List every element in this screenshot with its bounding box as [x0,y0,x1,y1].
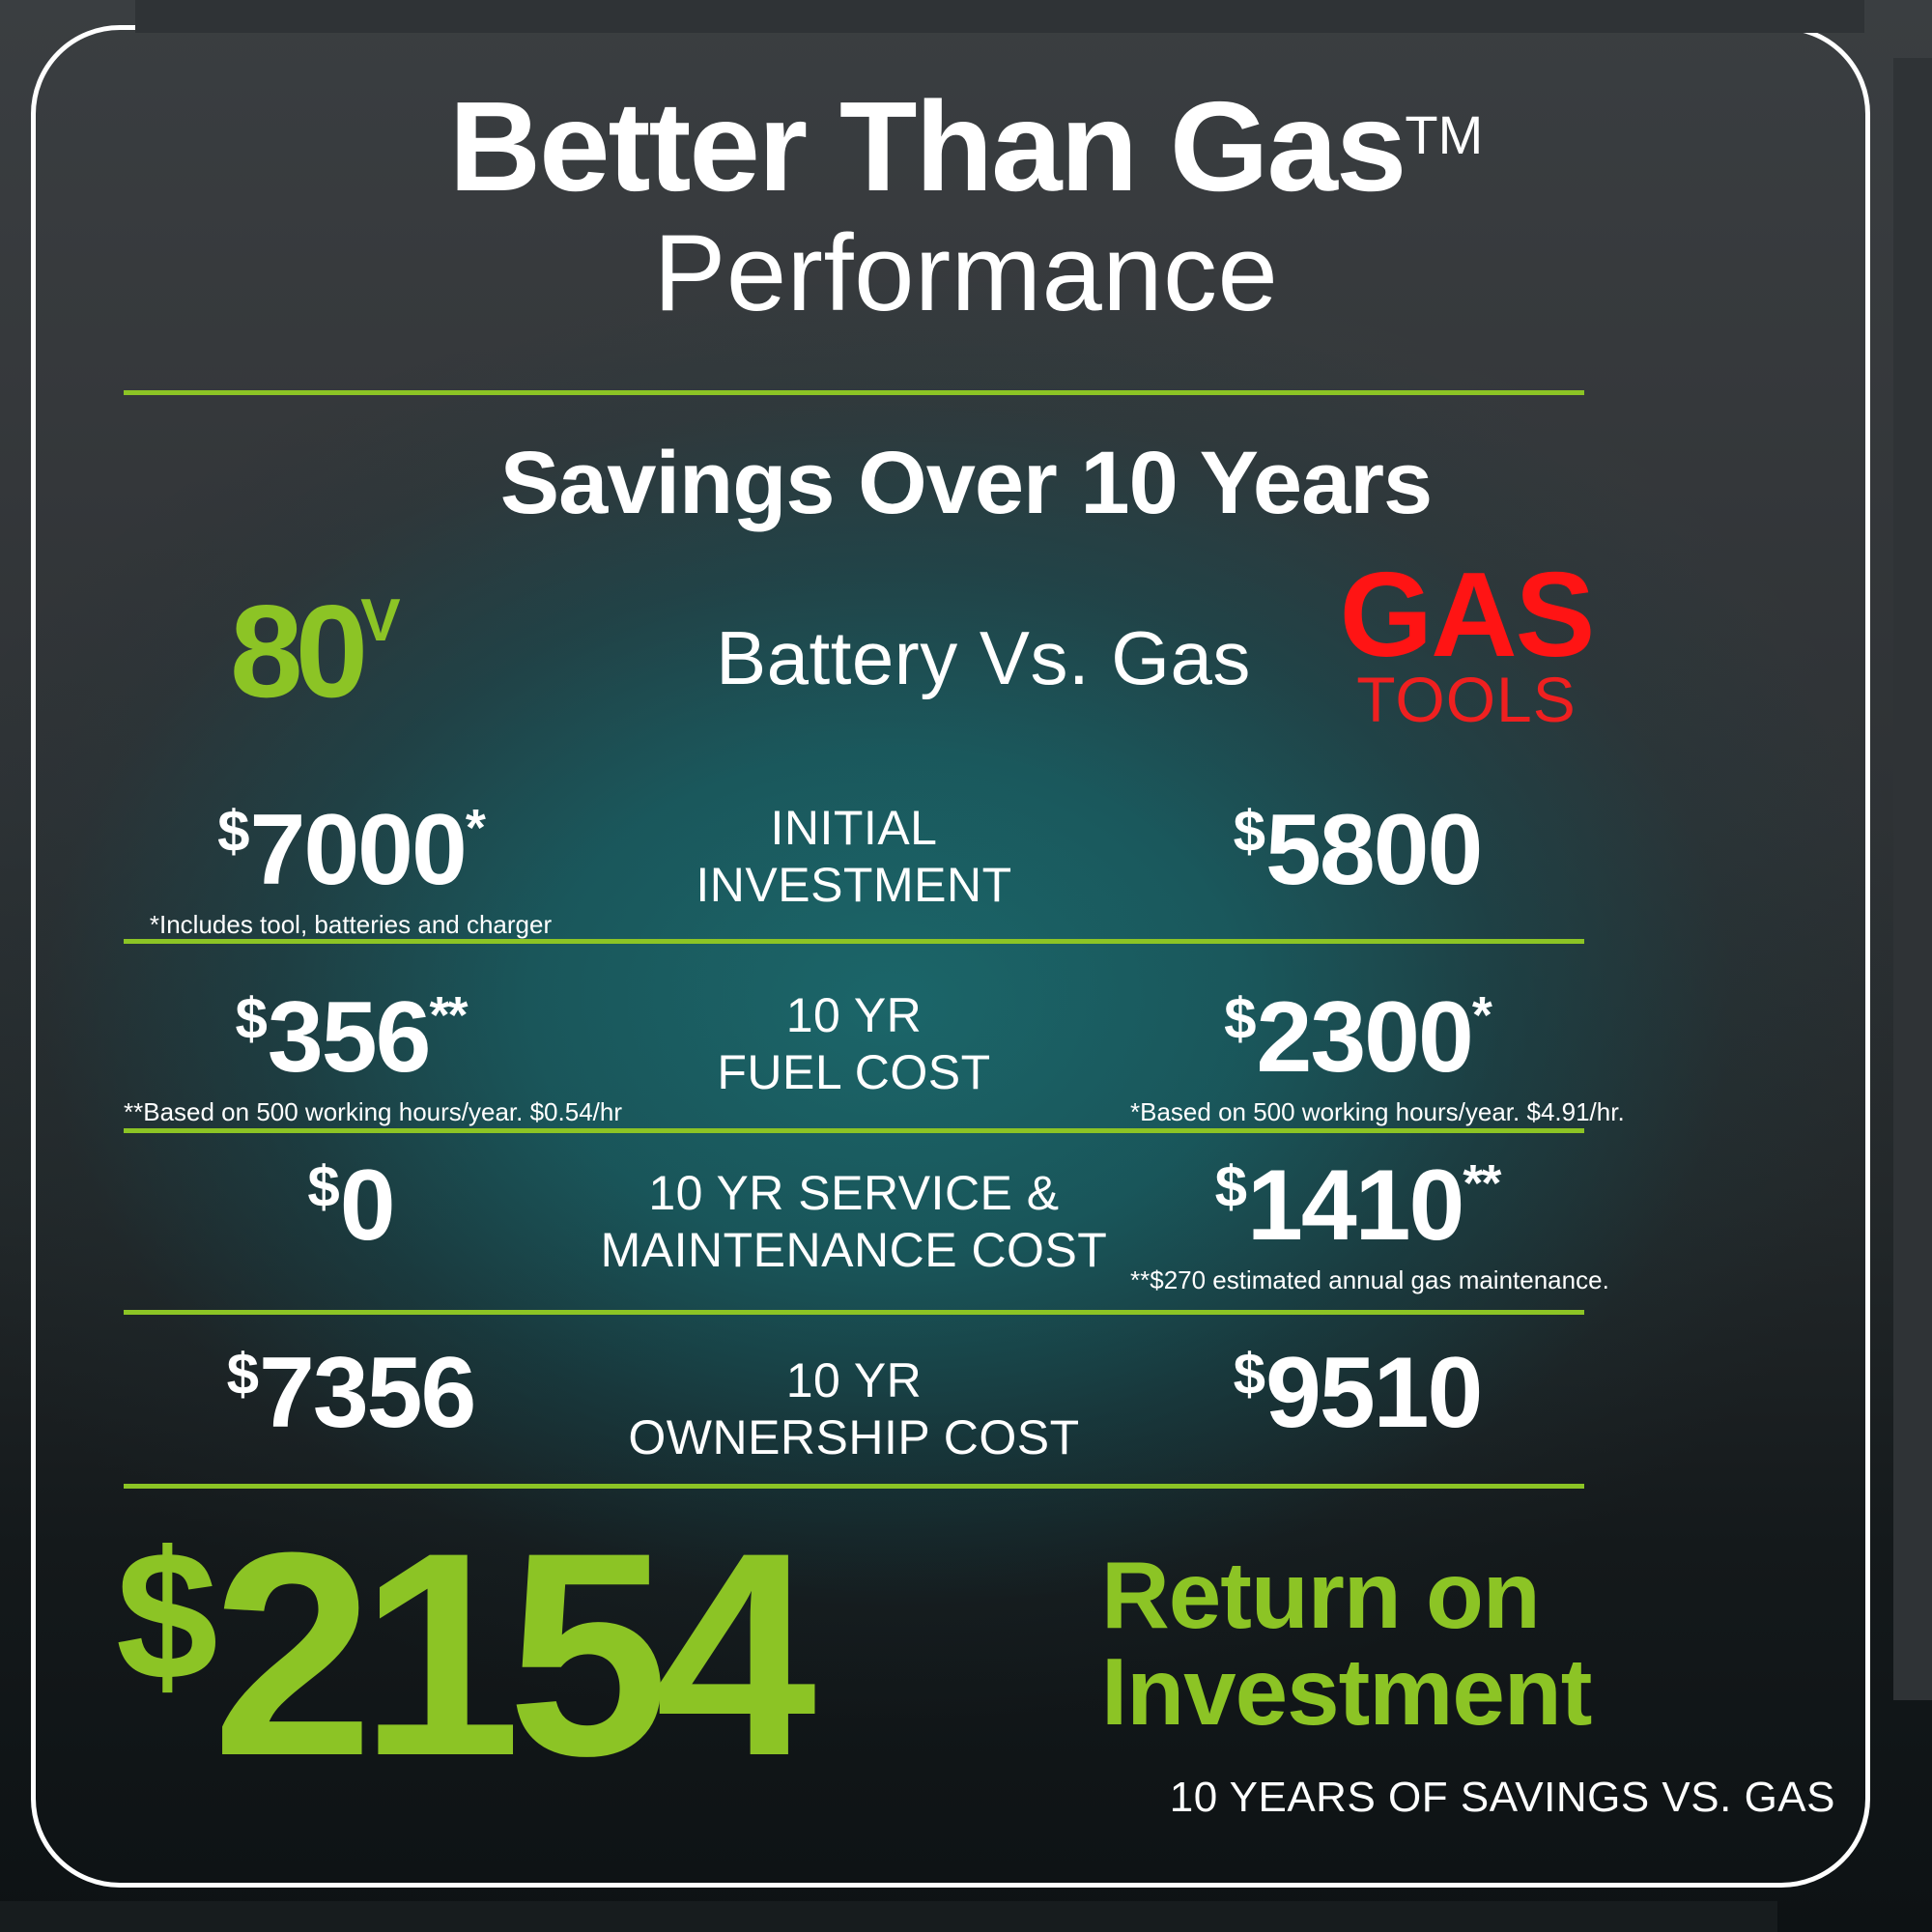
metric-label-line1: INITIAL [578,800,1130,857]
comparison-header-row: 80V Battery Vs. Gas GAS TOOLS [124,580,1824,753]
savings-heading: Savings Over 10 Years [0,433,1932,534]
gas-amount: $9510 [1130,1343,1584,1443]
battery-amount: $356** [124,987,578,1088]
currency-symbol: $ [217,799,247,864]
metric-label-line2: MAINTENANCE COST [578,1222,1130,1279]
gas-footnote: *Based on 500 working hours/year. $4.91/… [1130,1097,1584,1127]
row-battery-cell: $7356 [124,1343,578,1453]
divider-top [124,390,1584,395]
battery-value: 356 [268,981,430,1094]
battery-footnote: *Includes tool, batteries and charger [124,910,578,940]
footnote-marker: * [1472,986,1491,1044]
gas-footnote: **$270 estimated annual gas maintenance. [1130,1265,1584,1295]
divider-row-1 [124,939,1584,944]
battery-amount: $7000* [124,800,578,900]
currency-symbol: $ [116,1514,213,1719]
row-metric-label: 10 YR FUEL COST [578,987,1130,1101]
frame-mask-bottom [0,1901,1777,1932]
currency-symbol: $ [227,1342,257,1406]
gas-value: 1410 [1247,1150,1463,1262]
battery-footnote: **Based on 500 working hours/year. $0.54… [124,1097,578,1127]
poster-title-block: Better Than GasTM Performance [0,83,1932,330]
trademark-symbol: TM [1405,104,1483,165]
gas-value: 2300 [1257,981,1472,1094]
row-gas-cell: $9510 [1130,1343,1584,1453]
frame-mask-top [135,0,1864,33]
gas-amount: $1410** [1130,1155,1584,1256]
infographic-poster: Better Than GasTM Performance Savings Ov… [0,0,1932,1932]
row-gas-cell: $2300* *Based on 500 working hours/year.… [1130,987,1584,1127]
logo-80v-volt: V [360,587,398,654]
metric-label-line1: 10 YR [578,987,1130,1044]
gas-amount: $5800 [1130,800,1584,900]
battery-value: 0 [340,1150,394,1262]
battery-value: 7000 [250,794,466,906]
roi-subtext: 10 YEARS OF SAVINGS VS. GAS [1101,1774,1835,1822]
currency-symbol: $ [236,986,266,1051]
row-battery-cell: $7000* *Includes tool, batteries and cha… [124,800,578,940]
table-row: $356** **Based on 500 working hours/year… [124,987,1584,1127]
page-title: Better Than GasTM [0,83,1932,211]
metric-label-line1: 10 YR [578,1352,1130,1409]
currency-symbol: $ [1234,1342,1264,1406]
roi-block: $2154 Return on Investment 10 YEARS OF S… [116,1517,1835,1864]
row-metric-label: 10 YR SERVICE & MAINTENANCE COST [578,1155,1130,1279]
battery-value: 7356 [259,1337,474,1449]
roi-caption: Return on Investment 10 YEARS OF SAVINGS… [1101,1548,1835,1822]
logo-80v-number: 80 [230,578,360,724]
battery-amount: $0 [124,1155,578,1256]
metric-label-line2: OWNERSHIP COST [578,1409,1130,1466]
gas-tools-logo: GAS TOOLS [1264,558,1669,731]
title-main-text: Better Than Gas [449,75,1406,217]
battery-80v-logo: 80V [230,585,399,717]
metric-label-line1: 10 YR SERVICE & [578,1165,1130,1222]
row-battery-cell: $356** **Based on 500 working hours/year… [124,987,578,1127]
gas-amount: $2300* [1130,987,1584,1088]
metric-label-line2: INVESTMENT [578,857,1130,914]
row-gas-cell: $5800 [1130,800,1584,910]
roi-text-line2: Investment [1101,1644,1835,1741]
logo-tools-word: TOOLS [1264,668,1669,731]
divider-row-2 [124,1128,1584,1133]
table-row: $7000* *Includes tool, batteries and cha… [124,800,1584,940]
currency-symbol: $ [307,1154,337,1219]
roi-amount: $2154 [116,1509,803,1799]
currency-symbol: $ [1224,986,1254,1051]
battery-vs-gas-label: Battery Vs. Gas [636,614,1331,702]
row-gas-cell: $1410** **$270 estimated annual gas main… [1130,1155,1584,1295]
battery-amount: $7356 [124,1343,578,1443]
metric-label-line2: FUEL COST [578,1044,1130,1101]
table-row: $7356 10 YR OWNERSHIP COST $9510 [124,1343,1584,1466]
divider-row-4 [124,1484,1584,1489]
row-metric-label: 10 YR OWNERSHIP COST [578,1343,1130,1466]
row-metric-label: INITIAL INVESTMENT [578,800,1130,914]
divider-row-3 [124,1310,1584,1315]
table-row: $0 10 YR SERVICE & MAINTENANCE COST $141… [124,1155,1584,1295]
row-battery-cell: $0 [124,1155,578,1265]
footnote-marker: * [466,799,484,857]
logo-gas-word: GAS [1264,558,1669,673]
footnote-marker: ** [1463,1154,1499,1212]
currency-symbol: $ [1234,799,1264,864]
roi-value: 2154 [213,1492,803,1816]
page-subtitle: Performance [0,216,1932,330]
gas-value: 9510 [1265,1337,1481,1449]
gas-value: 5800 [1265,794,1481,906]
roi-text-line1: Return on [1101,1548,1835,1644]
currency-symbol: $ [1215,1154,1245,1219]
footnote-marker: ** [429,986,466,1044]
